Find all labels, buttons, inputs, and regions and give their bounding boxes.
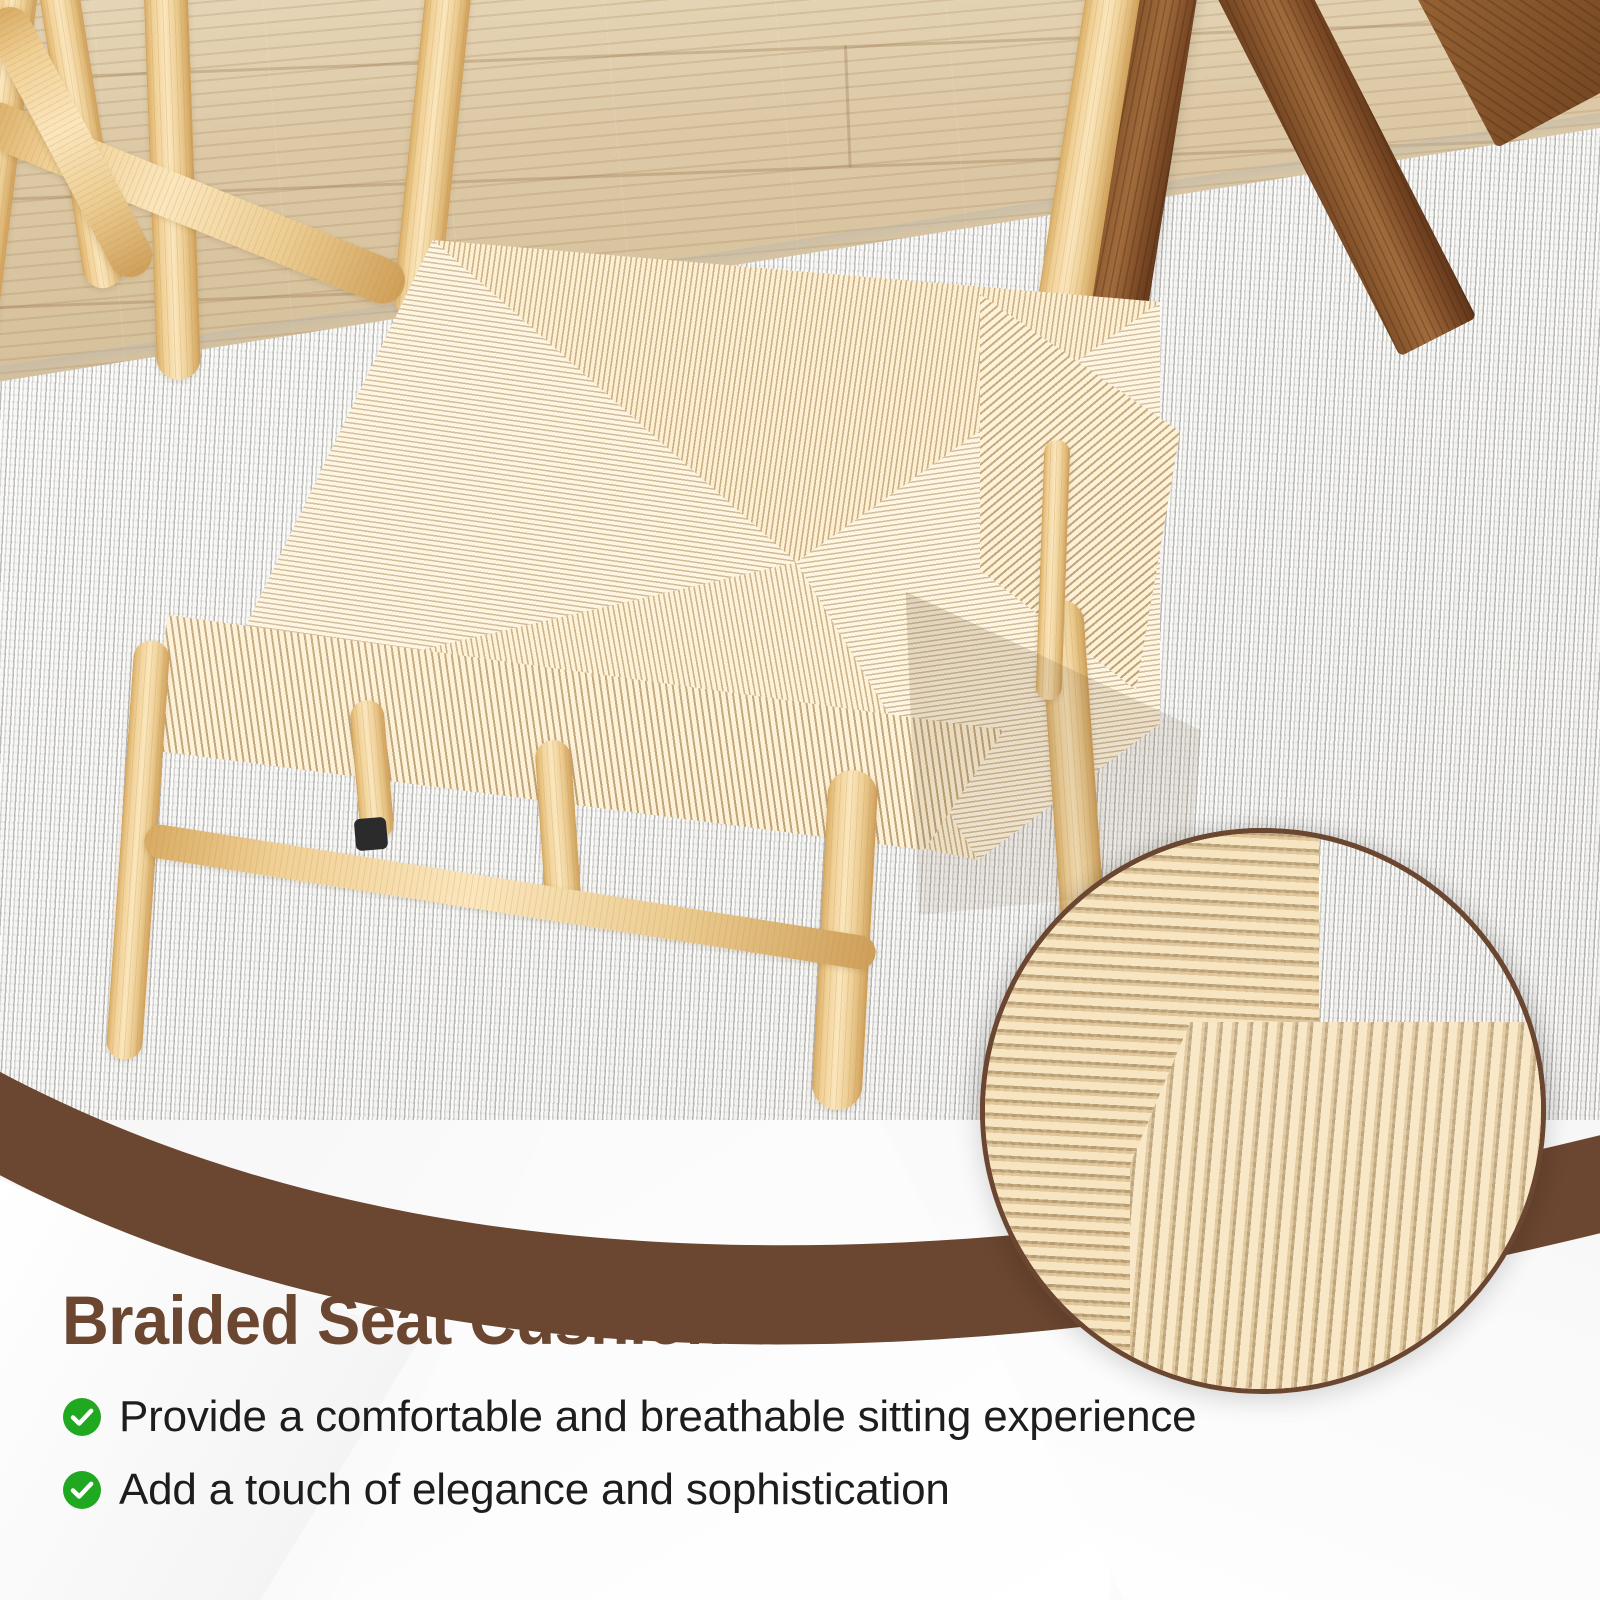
list-item-label: Provide a comfortable and breathable sit… (119, 1392, 1196, 1442)
page-title: Braided Seat Cushion (62, 1281, 725, 1360)
feature-bullet-list: Provide a comfortable and breathable sit… (62, 1392, 1542, 1538)
chair-foot-cap (354, 817, 389, 852)
list-item-label: Add a touch of elegance and sophisticati… (119, 1465, 950, 1515)
list-item: Add a touch of elegance and sophisticati… (62, 1465, 1542, 1515)
green-check-circle-icon (62, 1470, 102, 1510)
detail-zoom-circle-overlay (980, 828, 1546, 1394)
product-feature-banner: Braided Seat Cushion Provide a comfortab… (0, 0, 1600, 1600)
green-check-circle-icon (62, 1397, 102, 1437)
weave-horizontal-cords-overlay (1130, 1022, 1546, 1394)
list-item: Provide a comfortable and breathable sit… (62, 1392, 1542, 1442)
